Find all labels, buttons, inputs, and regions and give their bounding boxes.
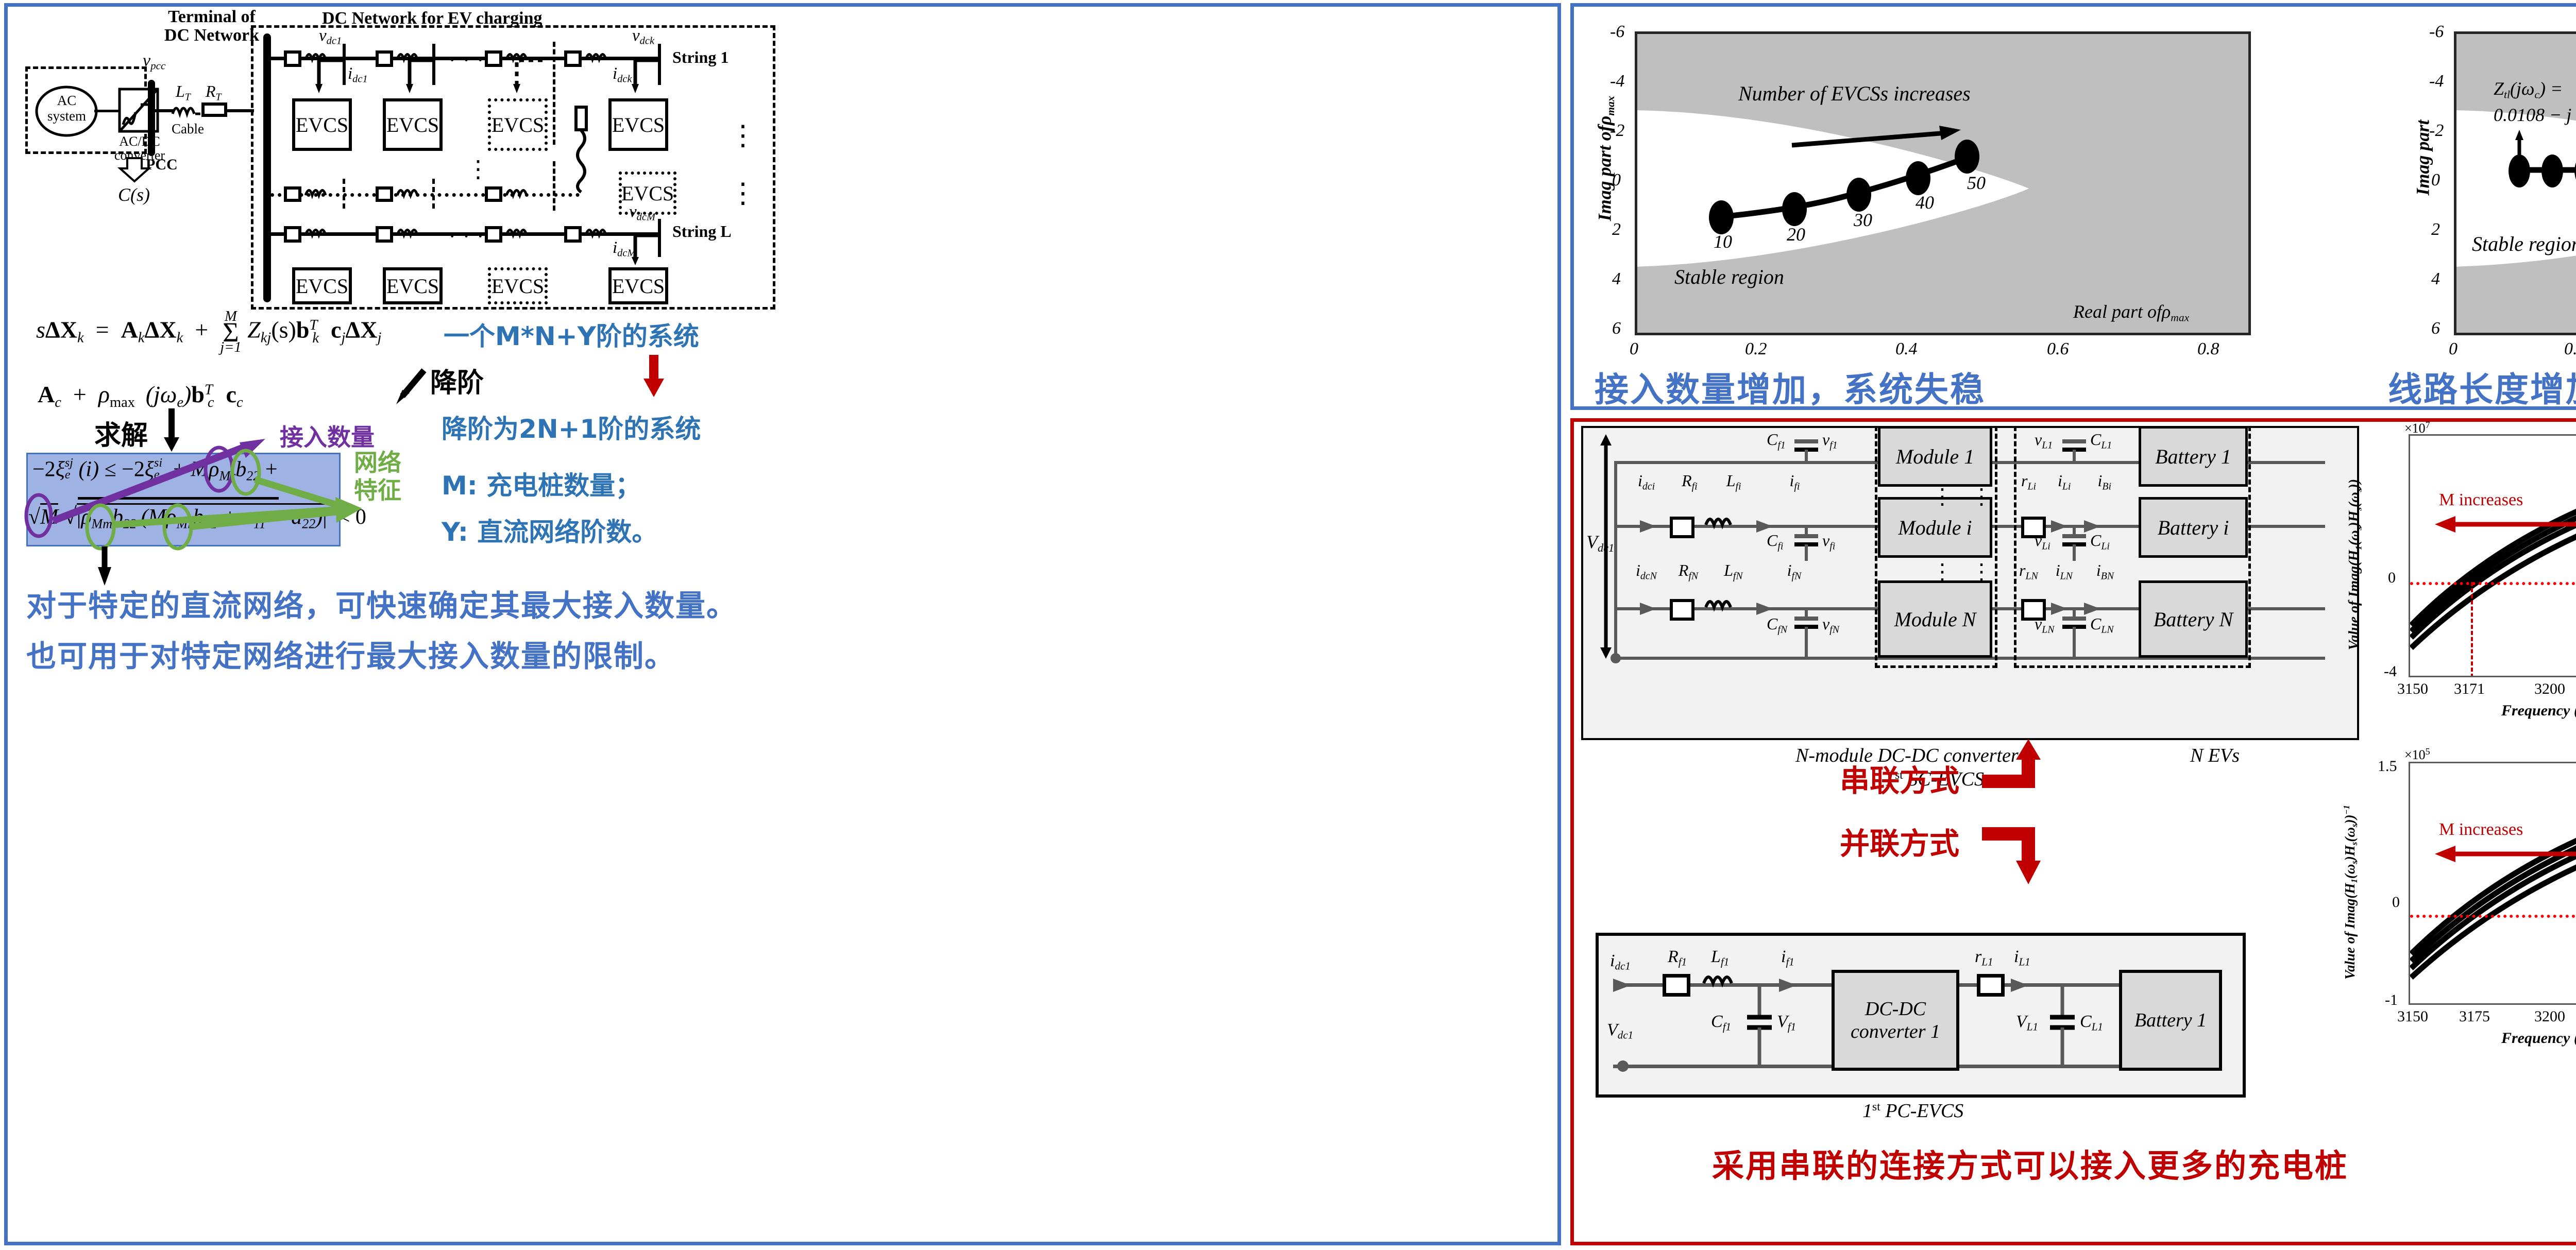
v-dcM-label: vdcM	[629, 202, 655, 224]
pc-arrow-right	[2011, 977, 2031, 994]
pc-CL1-subscript: L1	[2092, 1021, 2103, 1033]
br-bottom-caption: 采用串联的连接方式可以接入更多的充电桩	[1712, 1140, 2348, 1186]
v-dc1-label: vdc1	[319, 26, 342, 47]
sc-cf1-subscript: f1	[1777, 439, 1785, 451]
strings-vertical-ellipsis: ⋮	[466, 155, 490, 183]
jiangjie-arrow-icon	[390, 367, 430, 409]
sc-inductor-LfN-icon	[1705, 597, 1739, 610]
evcs-point-label-30: 30	[1854, 209, 1872, 231]
i-dc1-subscript: dc1	[352, 74, 368, 85]
v-dcM-subscript: dcM	[637, 212, 655, 223]
string1-r3	[485, 50, 502, 67]
sc-rowN-labels: idcN RfN LfN ifN	[1636, 561, 1801, 582]
pc-Vdc1-subscript: dc1	[1618, 1029, 1633, 1041]
right-vertical-ellipsis: ⋮	[729, 119, 757, 151]
sc-imag-xtick-3150: 3150	[2397, 680, 2428, 698]
lt-subscript: T	[185, 91, 191, 102]
blue-text-line2: 降阶为2N+1阶的系统	[442, 408, 701, 446]
sc-cf1-label: Cf1	[1767, 430, 1786, 451]
string1-r2	[376, 50, 393, 67]
pc-Vdc1-label: Vdc1	[1607, 1020, 1633, 1042]
pc-Lf1-label: Lf1	[1711, 947, 1729, 969]
sc-cap-cf1-icon	[1793, 432, 1819, 461]
pc-idc1-label: idc1	[1610, 951, 1631, 973]
sc-inductor-Lfi-icon	[1705, 515, 1739, 528]
stringmid-l2-icon	[396, 186, 423, 198]
pcc-label: PCC	[146, 156, 178, 174]
stringmid-l3-icon	[505, 186, 532, 198]
pc-cap-Cf1-icon	[1746, 983, 1773, 1069]
cable-label: Cable	[172, 121, 204, 137]
evcs-ytick--4: -4	[1610, 72, 1624, 91]
rt-symbol: R	[206, 82, 216, 100]
evcs-point-label-50: 50	[1967, 172, 1986, 194]
imp-ytick--6: -6	[2429, 22, 2444, 42]
sc-cap-cfi-icon	[1793, 525, 1819, 564]
pc-bottom-node-dot	[1616, 1060, 1631, 1075]
i-dck-subscript: dck	[617, 74, 632, 85]
sc-imag-zero-line	[2410, 582, 2576, 585]
pc-battery-1-label: Battery 1	[2134, 1009, 2207, 1032]
i-dck-symbol: i	[613, 64, 617, 83]
pc-CL1-label: CL1	[2080, 1012, 2103, 1034]
pc-Rf1-subscript: f1	[1679, 956, 1687, 968]
pcc-bus-bar	[148, 80, 155, 156]
evcs-xtick-06: 0.6	[2047, 339, 2069, 359]
v-pcc-label: vpcc	[143, 51, 165, 73]
rt-subscript: T	[216, 91, 222, 102]
sc-cfi-label: Cfi	[1767, 531, 1783, 552]
lt-symbol: L	[176, 82, 185, 100]
pc-VL1-symbol: V	[2016, 1012, 2027, 1031]
v-pcc-subscript: pcc	[150, 60, 165, 72]
pc-Vf1-symbol: V	[1777, 1012, 1788, 1031]
v-dck-subscript: dck	[640, 36, 654, 47]
sc-imag-m-increases: M increases	[2439, 490, 2523, 510]
stringL-l2-icon	[396, 226, 423, 238]
sc-vfN-subscript: fN	[1829, 624, 1839, 635]
impedance-stable-region-label: Stable region	[2472, 232, 2576, 256]
sc-vdc1-symbol: V	[1586, 532, 1598, 552]
blue-text-line4: Y: 直流网络阶数。	[442, 511, 657, 549]
imp-ytick-6: 6	[2431, 319, 2440, 338]
equation-2: Ac + ρmax (jωe)bTc cc	[38, 381, 243, 411]
evcs-string1-k: EVCS	[608, 98, 668, 151]
string-interconnect-wave	[574, 130, 590, 192]
terminal-title-line1: Terminal of	[152, 8, 271, 26]
evcs-string1-3-dotted: EVCS	[488, 98, 548, 151]
v-dc1-subscript: dc1	[327, 36, 342, 47]
binglian-label: 并联方式	[1840, 819, 1959, 863]
stringL-r4	[564, 226, 582, 243]
sc-rowi-labels: idci Rfi Lfi ifi	[1638, 471, 1800, 492]
pc-CL1-symbol: C	[2080, 1012, 2092, 1031]
pc-imag-ytick-15: 1.5	[2378, 758, 2397, 775]
pc-resistor-rL1	[1977, 974, 2005, 997]
string1-r4	[564, 50, 582, 67]
pc-title-sup: st	[1872, 1100, 1880, 1114]
sc-evcs-circuit: Vdc1 Cf1 vf1 Module 1 vL1 CL1	[1581, 426, 2359, 740]
sc-bottom-node-dot	[1609, 653, 1623, 667]
stability-impedance-plot-area: Ztl(jωc) = 0.0108 − j 0.0584 Ztl(jωc) = …	[2454, 31, 2576, 335]
equation-1: sΔXk = AkΔXk + M Σ j=1 Zkj(s)bTk cjΔXj	[36, 312, 381, 353]
conclusion-line2: 也可用于对特定网络进行最大接入数量的限制。	[26, 632, 675, 675]
imp-yaxis-title: Imag part	[2412, 119, 2434, 195]
wire-pcc-to-lt	[155, 109, 174, 112]
blue-text-line3: M: 充电桩数量；	[442, 465, 641, 502]
stringL-l4-icon	[585, 226, 612, 238]
sc-vfN-symbol: v	[1822, 614, 1829, 633]
sc-resistor-RfN	[1670, 599, 1694, 621]
imp-ytick-2: 2	[2431, 220, 2440, 239]
pc-Vdc1-symbol: V	[1607, 1020, 1618, 1039]
evcs-stringL-3-dotted: EVCS	[488, 267, 548, 304]
sc-rowi-arrow-in	[1640, 519, 1660, 534]
sc-imag-ytick--4: -4	[2384, 663, 2397, 680]
evcs-ytick-4: 4	[1612, 269, 1621, 289]
stringL-ellipsis: · · ·	[449, 224, 485, 248]
pc-iL1-subscript: L1	[2019, 956, 2030, 968]
pc-VL1-label: VL1	[2016, 1012, 2038, 1034]
pc-iL1-label: iL1	[2014, 947, 2030, 969]
evcs-xaxis-inline-label: Real part ofρmax	[2073, 301, 2189, 324]
evcs-ytick-2: 2	[1612, 220, 1621, 239]
pc-imag-m-increases: M increases	[2439, 820, 2523, 840]
imp-ytick--4: -4	[2429, 72, 2444, 91]
stringL-l3-icon	[505, 226, 532, 238]
imp-xtick-02: 0.2	[2564, 339, 2576, 359]
ac-system-label: AC system	[35, 93, 99, 124]
controller-cs-label: C(s)	[118, 184, 150, 206]
evcs-label: EVCS	[386, 274, 439, 298]
i-dck-label: idck	[613, 64, 632, 85]
sc-evs-group-dashed	[2014, 426, 2251, 668]
sc-vfi-label: vfi	[1822, 531, 1835, 552]
impedance-annotation-left: Ztl(jωc) = 0.0108 − j 0.0584	[2494, 76, 2576, 127]
pc-dcdc-converter: DC-DC converter 1	[1832, 970, 1959, 1071]
sc-cfN-symbol: C	[1767, 614, 1777, 633]
sc-cfN-subscript: fN	[1777, 624, 1787, 635]
converter-line1: AC/DC	[109, 134, 171, 148]
sc-imag-yaxis-title: Value of Imag(H1(ωs)Hs(ωs))	[2346, 479, 2364, 650]
evcs-point-label-10: 10	[1714, 231, 1732, 252]
pc-Vf1-label: Vf1	[1777, 1012, 1796, 1034]
tr-caption-right: 线路长度增加，系统失稳	[2388, 362, 2576, 412]
stringmid-r3	[485, 186, 502, 202]
jiangjie-label: 降阶	[430, 361, 484, 400]
pc-converter-line2: converter 1	[1851, 1020, 1940, 1043]
pc-evcs-circuit: idc1 Vdc1 Rf1 Lf1 if1 Cf1	[1596, 933, 2246, 1098]
v-dc1-symbol: v	[319, 26, 327, 45]
stringmid-drop3	[553, 161, 555, 211]
rt-label: RT	[206, 82, 222, 103]
v-pcc-symbol: v	[143, 51, 150, 70]
string1-ellipsis: · · ·	[449, 48, 485, 72]
sc-rowN-arrow-in	[1640, 601, 1660, 617]
evcs-label: EVCS	[492, 113, 544, 137]
evcs-point-label-20: 20	[1787, 224, 1805, 245]
sc-imag-plot-area: M increases	[2409, 434, 2576, 677]
sc-imag-xaxis-title: Frequency (ωs)	[2501, 702, 2576, 722]
stringmid-drop2	[432, 179, 435, 209]
evcs-string1-1: EVCS	[292, 98, 352, 151]
wangluo-line1: 网络	[354, 449, 401, 476]
evcs-xtick-08: 0.8	[2197, 339, 2219, 359]
sc-imag-exponent: ×107	[2404, 420, 2430, 436]
inductor-lt-icon	[172, 101, 201, 117]
poster-root: Terminal of DC Network DC Network for EV…	[0, 0, 2576, 1250]
pc-imag-xtick-3150: 3150	[2397, 1008, 2428, 1025]
sc-vfN-label: vfN	[1822, 614, 1839, 636]
dc-terminal-bus	[263, 33, 271, 302]
sc-cap-cfN-icon	[1793, 607, 1819, 658]
pc-Lf1-symbol: L	[1711, 947, 1721, 966]
pc-title-post: PC-EVCS	[1880, 1100, 1963, 1122]
sc-vf1-subscript: f1	[1829, 439, 1837, 451]
pc-imag-yaxis-title: Value of Imag(H1(ωs)Hs(ωs))−1	[2342, 805, 2360, 980]
stability-evcs-plot-area: 10 20 30 40 50 Number of EVCSs increases…	[1635, 31, 2251, 335]
pc-if1-label: if1	[1781, 947, 1794, 969]
pc-if1-subscript: f1	[1786, 956, 1794, 968]
pc-cap-CL1-icon	[2049, 983, 2076, 1069]
ac-system-line1: AC	[35, 93, 99, 109]
pc-resistor-Rf1	[1663, 974, 1690, 997]
string-1-label: String 1	[672, 48, 728, 67]
pc-imag-zero-line	[2410, 915, 2576, 918]
red-down-arrow-icon	[641, 353, 666, 399]
pc-imag-xaxis-title: Frequency (ωs)	[2501, 1030, 2576, 1049]
evcs-xtick-02: 0.2	[1745, 339, 1767, 359]
chuanlian-label: 串联方式	[1840, 757, 1959, 800]
evcs-stringL-2: EVCS	[383, 267, 443, 304]
pc-battery-1: Battery 1	[2119, 970, 2222, 1071]
bottom-right-panel: Vdc1 Cf1 vf1 Module 1 vL1 CL1	[1570, 418, 2576, 1245]
evcs-label: EVCS	[612, 274, 665, 298]
pc-Cf1-subscript: f1	[1723, 1021, 1731, 1033]
string1-l4-icon	[585, 50, 612, 62]
evcs-yaxis-title: Imag part ofρmax	[1594, 96, 1617, 221]
sc-resistor-Rfi	[1670, 517, 1694, 538]
pc-idc1-subscript: dc1	[1615, 960, 1630, 972]
wire-ac-to-converter	[94, 110, 119, 112]
stringL-arrowM	[631, 233, 662, 267]
pc-evcs-title: 1st PC-EVCS	[1862, 1100, 1963, 1122]
sc-cf1-symbol: C	[1767, 430, 1777, 449]
evcs-label: EVCS	[296, 274, 348, 298]
pc-rL1-label: rL1	[1975, 947, 1993, 969]
sc-converter-group-dashed	[1875, 426, 1997, 668]
stringL-r3	[485, 226, 502, 243]
sc-cfi-subscript: fi	[1777, 540, 1783, 552]
ac-system-line2: system	[35, 109, 99, 124]
sc-imag-chart: M increases 0 -4 3150 3171 3200 3250 Fre…	[2331, 427, 2576, 741]
i-dc1-label: idc1	[348, 64, 368, 85]
string-L-label: String L	[672, 222, 732, 241]
pc-imag-xtick-3175: 3175	[2459, 1008, 2490, 1025]
pc-Cf1-symbol: C	[1711, 1012, 1723, 1031]
i-dc1-symbol: i	[348, 64, 352, 83]
stability-impedance-chart: Ztl(jωc) = 0.0108 − j 0.0584 Ztl(jωc) = …	[2425, 18, 2576, 379]
pc-Lf1-subscript: f1	[1721, 956, 1729, 968]
stringmid-drop1	[343, 179, 345, 209]
stringmid-l1-icon	[304, 186, 331, 198]
stringL-r1	[284, 226, 301, 243]
evcs-ytick-6: 6	[1612, 319, 1621, 338]
pc-rL1-subscript: L1	[1981, 956, 1993, 968]
sc-imag-xtick-3171: 3171	[2454, 680, 2485, 698]
sc-imag-xtick-3200: 3200	[2534, 680, 2565, 698]
sc-vfi-subscript: fi	[1829, 540, 1835, 552]
string1-arrow2	[405, 58, 436, 95]
evcs-label: EVCS	[612, 113, 665, 137]
pc-rL1-symbol: r	[1975, 947, 1981, 966]
stability-evcs-chart: 10 20 30 40 50 Number of EVCSs increases…	[1606, 18, 2337, 379]
tr-caption-left: 接入数量增加，系统失稳	[1595, 362, 1986, 412]
string1-arrow4	[631, 58, 662, 95]
resistor-rt	[201, 102, 227, 117]
evcs-label: EVCS	[386, 113, 439, 137]
evcs-point-label-40: 40	[1916, 192, 1934, 213]
chuanlian-red-arrow-icon	[1979, 737, 2046, 794]
evcs-stringL-M: EVCS	[608, 267, 668, 304]
sc-imag-ytick-0: 0	[2388, 569, 2396, 587]
pc-imag-exponent: ×105	[2404, 746, 2430, 763]
evcs-label: EVCS	[621, 181, 674, 206]
v-dck-symbol: v	[632, 26, 640, 45]
stringmid-r1	[284, 186, 301, 202]
pc-title-pre: 1	[1862, 1100, 1872, 1122]
i-dcM-symbol: i	[613, 238, 617, 257]
pc-arrow-in	[1613, 977, 1634, 994]
stringL-r2	[376, 226, 393, 243]
pc-Cf1-label: Cf1	[1711, 1012, 1731, 1034]
pc-converter-line1: DC-DC	[1865, 998, 1926, 1020]
sc-n-evs-caption: N EVs	[2190, 744, 2240, 767]
v-dck-label: vdck	[632, 26, 654, 47]
wangluo-line2: 特征	[354, 476, 401, 504]
pc-imag-xtick-3200: 3200	[2534, 1008, 2565, 1025]
sc-vdc1-subscript: dc1	[1598, 541, 1614, 554]
right-vertical-ellipsis-2: ⋮	[729, 177, 757, 209]
stringmid-r2	[376, 186, 393, 202]
imp-ytick-4: 4	[2431, 269, 2440, 289]
evcs-string1-2: EVCS	[383, 98, 443, 151]
string1-arrow3-dotted	[512, 58, 545, 95]
pc-arrow-mid	[1779, 977, 1800, 994]
pc-VL1-subscript: L1	[2027, 1021, 2038, 1033]
top-right-panel: 10 20 30 40 50 Number of EVCSs increases…	[1570, 3, 2576, 410]
evcs-xtick-0: 0	[1630, 339, 1638, 359]
pc-imag-plot-area: M increases	[2409, 762, 2576, 1005]
pc-imag-left-arrow-icon	[2435, 844, 2576, 864]
sc-vf1-symbol: v	[1822, 430, 1829, 449]
evcs-ytick--6: -6	[1610, 22, 1624, 42]
sc-cfi-symbol: C	[1767, 531, 1777, 550]
pc-inductor-Lf1-icon	[1703, 972, 1740, 986]
evcs-annotation-increase: Number of EVCSs increases	[1738, 81, 1971, 106]
evcs-label: EVCS	[296, 113, 348, 137]
wire-rt-to-dcbus	[226, 109, 254, 112]
sc-imag-marker-line	[2471, 582, 2473, 677]
pc-imag-ytick-0: 0	[2392, 894, 2400, 911]
sc-vfi-symbol: v	[1822, 531, 1829, 550]
sc-imag-left-arrow-icon	[2435, 514, 2576, 535]
v-dcM-symbol: v	[629, 202, 637, 221]
pc-Rf1-symbol: R	[1668, 947, 1679, 966]
sc-vdc1-label: Vdc1	[1586, 531, 1614, 555]
evcs-stable-region-label: Stable region	[1674, 265, 1784, 289]
left-panel: Terminal of DC Network DC Network for EV…	[4, 3, 1561, 1245]
pc-imag-chart: M increases ×105 1.5 0 -1 3150 3175 3200…	[2331, 746, 2576, 1066]
string1-r1	[284, 50, 301, 67]
evcs-label: EVCS	[492, 274, 544, 298]
string1-sep-dashed	[553, 42, 555, 145]
stringL-l1-icon	[304, 226, 331, 238]
pc-Vf1-subscript: f1	[1788, 1021, 1796, 1033]
lt-label: LT	[176, 82, 191, 103]
evcs-stringL-1: EVCS	[292, 267, 352, 304]
string-interconnect-box	[574, 106, 588, 131]
imp-xtick-0: 0	[2449, 339, 2458, 359]
conclusion-line1: 对于特定的直流网络，可快速确定其最大接入数量。	[26, 581, 737, 625]
blue-text-line1: 一个M*N+Y阶的系统	[444, 316, 699, 353]
sc-left-rail	[1614, 461, 1617, 660]
wangluo-tezheng-label: 网络 特征	[354, 449, 401, 505]
string1-arrow1	[315, 58, 346, 95]
sc-cfN-label: CfN	[1767, 614, 1787, 636]
binglian-red-arrow-icon	[1979, 827, 2046, 888]
pc-imag-ytick--1: -1	[2385, 991, 2398, 1009]
evcs-xtick-04: 0.4	[1895, 339, 1918, 359]
pc-Rf1-label: Rf1	[1668, 947, 1687, 969]
sc-vf1-label: vf1	[1822, 430, 1838, 451]
